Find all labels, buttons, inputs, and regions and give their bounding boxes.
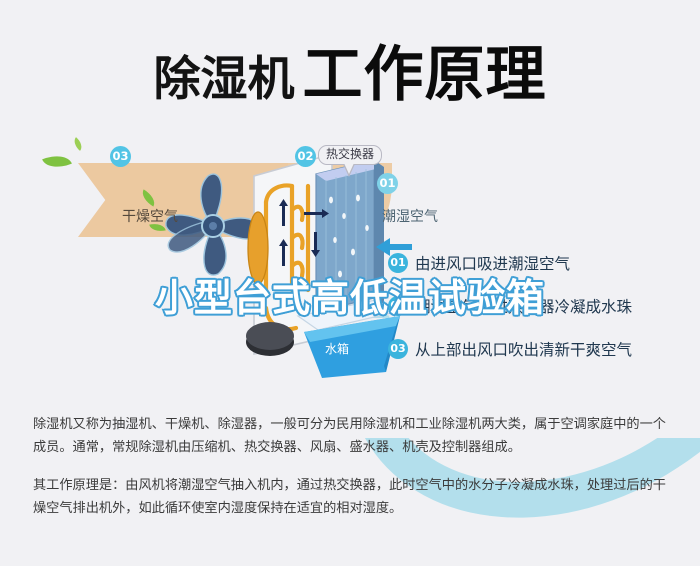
- leaf-icon: [42, 150, 72, 174]
- title-part-1: 除湿机: [154, 52, 295, 107]
- step-badge-03: 03: [388, 339, 408, 359]
- body-paragraph-2: 其工作原理是：由风机将潮湿空气抽入机内，通过热交换器，此时空气中的水分子冷凝成水…: [33, 475, 673, 520]
- body-copy: 除湿机又称为抽湿机、干燥机、除湿器，一般可分为民用除湿机和工业除湿机两大类，属于…: [33, 414, 673, 537]
- title-part-2: 工作原理: [303, 40, 547, 110]
- illustration-badge-03: 03: [110, 146, 131, 167]
- callout-tail-fill: [344, 163, 354, 174]
- step-text-03: 从上部出风口吹出清新干爽空气: [415, 338, 632, 360]
- dry-air-label: 干燥空气: [122, 206, 178, 226]
- infographic-page: 除湿机工作原理: [0, 0, 700, 566]
- humid-air-label: 潮湿空气: [382, 206, 438, 226]
- step-item: 03 从上部出风口吹出清新干爽空气: [388, 334, 688, 364]
- page-title: 除湿机工作原理: [0, 26, 700, 113]
- body-paragraph-1: 除湿机又称为抽湿机、干燥机、除湿器，一般可分为民用除湿机和工业除湿机两大类，属于…: [33, 414, 673, 459]
- water-tank-label: 水箱: [325, 340, 349, 357]
- leaf-icon: [71, 137, 85, 151]
- illustration-badge-01: 01: [377, 173, 398, 194]
- illustration-badge-02: 02: [295, 146, 316, 167]
- watermark-text: 小型台式高低温试验箱: [0, 267, 700, 322]
